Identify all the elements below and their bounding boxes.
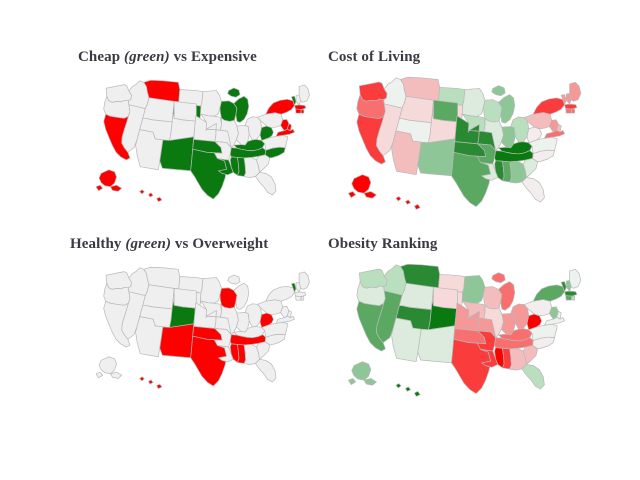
title-prefix: Cheap bbox=[78, 49, 124, 65]
state-ny[interactable] bbox=[266, 286, 295, 301]
state-ny[interactable] bbox=[266, 99, 295, 114]
title-suffix: vs Overweight bbox=[171, 236, 268, 252]
state-me[interactable] bbox=[299, 272, 309, 289]
state-ny[interactable] bbox=[533, 285, 564, 301]
state-hi[interactable] bbox=[396, 197, 420, 210]
state-fl[interactable] bbox=[522, 364, 544, 389]
panel-title-cheap: Cheap (green) vs Expensive bbox=[78, 50, 257, 65]
map-obesity-ranking[interactable] bbox=[340, 262, 592, 402]
state-ak[interactable] bbox=[348, 175, 376, 199]
state-hi[interactable] bbox=[140, 377, 162, 389]
state-fl[interactable] bbox=[522, 177, 544, 202]
state-mn[interactable] bbox=[200, 91, 221, 117]
panel-title-cost: Cost of Living bbox=[328, 50, 420, 65]
state-md[interactable] bbox=[544, 317, 564, 325]
us-choropleth bbox=[96, 75, 312, 210]
state-me[interactable] bbox=[570, 269, 581, 288]
state-mi[interactable] bbox=[492, 273, 505, 283]
state-ct[interactable] bbox=[296, 109, 302, 113]
map-healthy-vs-overweight[interactable] bbox=[96, 262, 312, 397]
state-hi[interactable] bbox=[396, 384, 420, 397]
title-italic: (green) bbox=[125, 236, 171, 252]
state-ak[interactable] bbox=[96, 357, 122, 379]
state-ri[interactable] bbox=[301, 297, 304, 301]
state-ri[interactable] bbox=[572, 296, 575, 300]
state-ak[interactable] bbox=[96, 170, 122, 192]
state-me[interactable] bbox=[570, 82, 581, 101]
state-ct[interactable] bbox=[296, 296, 302, 300]
state-mi[interactable] bbox=[228, 275, 240, 284]
state-nm[interactable] bbox=[160, 137, 194, 171]
map-grid: Cheap (green) vs Expensive Cost of Livin… bbox=[0, 0, 640, 480]
title-italic: (green) bbox=[124, 49, 170, 65]
state-ak[interactable] bbox=[348, 362, 376, 386]
state-mn[interactable] bbox=[462, 88, 485, 116]
state-wa[interactable] bbox=[106, 85, 131, 103]
state-md[interactable] bbox=[276, 316, 295, 323]
state-ct[interactable] bbox=[566, 296, 572, 300]
state-fl[interactable] bbox=[255, 172, 276, 195]
state-fl[interactable] bbox=[255, 359, 276, 382]
panel-title-healthy: Healthy (green) vs Overweight bbox=[70, 237, 268, 252]
state-ri[interactable] bbox=[572, 109, 575, 113]
state-ny[interactable] bbox=[533, 98, 564, 114]
state-me[interactable] bbox=[299, 85, 309, 102]
map-cheap-vs-expensive[interactable] bbox=[96, 75, 312, 210]
panel-title-obesity: Obesity Ranking bbox=[328, 237, 437, 252]
title-suffix: vs Expensive bbox=[170, 49, 257, 65]
us-choropleth bbox=[340, 262, 592, 402]
state-nm[interactable] bbox=[418, 139, 455, 176]
state-ct[interactable] bbox=[566, 109, 572, 113]
state-md[interactable] bbox=[544, 130, 564, 138]
title-prefix: Obesity Ranking bbox=[328, 236, 437, 252]
state-nm[interactable] bbox=[418, 326, 455, 363]
state-hi[interactable] bbox=[140, 190, 162, 202]
state-nm[interactable] bbox=[160, 324, 194, 358]
state-wa[interactable] bbox=[106, 272, 131, 290]
title-prefix: Healthy bbox=[70, 236, 125, 252]
state-wa[interactable] bbox=[359, 269, 387, 288]
state-mn[interactable] bbox=[462, 275, 485, 303]
state-md[interactable] bbox=[276, 129, 295, 136]
us-choropleth bbox=[96, 262, 312, 397]
state-mi[interactable] bbox=[228, 88, 240, 97]
state-mn[interactable] bbox=[200, 278, 221, 304]
state-mi[interactable] bbox=[492, 86, 505, 96]
state-wa[interactable] bbox=[359, 82, 387, 101]
us-choropleth bbox=[340, 75, 592, 215]
map-cost-of-living[interactable] bbox=[340, 75, 592, 215]
state-ri[interactable] bbox=[301, 110, 304, 114]
title-prefix: Cost of Living bbox=[328, 49, 420, 65]
